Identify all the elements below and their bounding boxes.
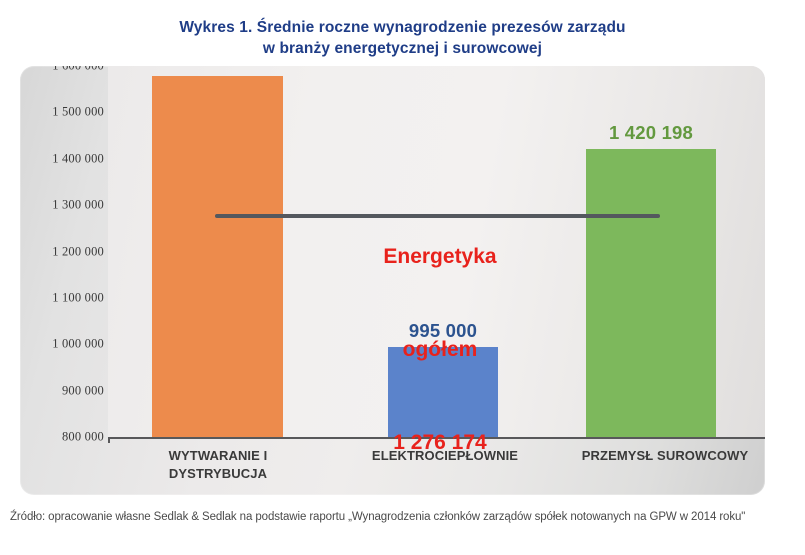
- x-axis-category-line-1: PRZEMYSŁ SUROWCOWY: [565, 447, 765, 465]
- average-annotation: Energetyka ogółem 1 276 174: [305, 179, 575, 495]
- y-axis-tick-1600000: 1 600 000: [26, 66, 104, 74]
- y-axis-tick-1100000: 1 100 000: [26, 290, 104, 305]
- x-axis-category-wytwarzanie-i-dystrybucja: WYTWARANIE I DYSTRYBUCJA: [128, 447, 308, 483]
- y-axis-tick-800000: 800 000: [26, 430, 104, 445]
- average-annotation-line-2: ogółem: [305, 334, 575, 365]
- chart-title-line-2: w branży energetycznej i surowcowej: [0, 38, 805, 59]
- y-axis: 1 600 000 1 500 000 1 400 000 1 300 000 …: [20, 66, 104, 495]
- y-axis-tick-1400000: 1 400 000: [26, 151, 104, 166]
- bar-value-label-przemysl-surowcowy: 1 420 198: [586, 122, 716, 144]
- x-axis-category-line-2: DYSTRYBUCJA: [128, 465, 308, 483]
- x-axis-category-line-1: WYTWARANIE I: [128, 447, 308, 465]
- bar-value-label-wytwarzanie-i-dystrybucja: 1 578 072: [152, 66, 283, 71]
- chart-plot-area: 1 600 000 1 500 000 1 400 000 1 300 000 …: [20, 66, 765, 495]
- average-annotation-value: 1 276 174: [305, 427, 575, 458]
- bar-wytwarzanie-i-dystrybucja[interactable]: [152, 76, 283, 437]
- chart-title-line-1: Wykres 1. Średnie roczne wynagrodzenie p…: [179, 19, 625, 36]
- source-note: Źródło: opracowanie własne Sedlak & Sedl…: [10, 511, 800, 523]
- y-axis-tick-1300000: 1 300 000: [26, 198, 104, 213]
- bar-przemysl-surowcowy[interactable]: [586, 149, 716, 437]
- y-axis-tick-1200000: 1 200 000: [26, 244, 104, 259]
- y-axis-tick-900000: 900 000: [26, 383, 104, 398]
- chart-title: Wykres 1. Średnie roczne wynagrodzenie p…: [0, 17, 805, 59]
- x-axis-origin-tick: [108, 437, 110, 443]
- average-annotation-line-1: Energetyka: [305, 241, 575, 272]
- y-axis-tick-1000000: 1 000 000: [26, 337, 104, 352]
- y-axis-tick-1500000: 1 500 000: [26, 105, 104, 120]
- x-axis-category-przemysl-surowcowy: PRZEMYSŁ SUROWCOWY: [565, 447, 765, 465]
